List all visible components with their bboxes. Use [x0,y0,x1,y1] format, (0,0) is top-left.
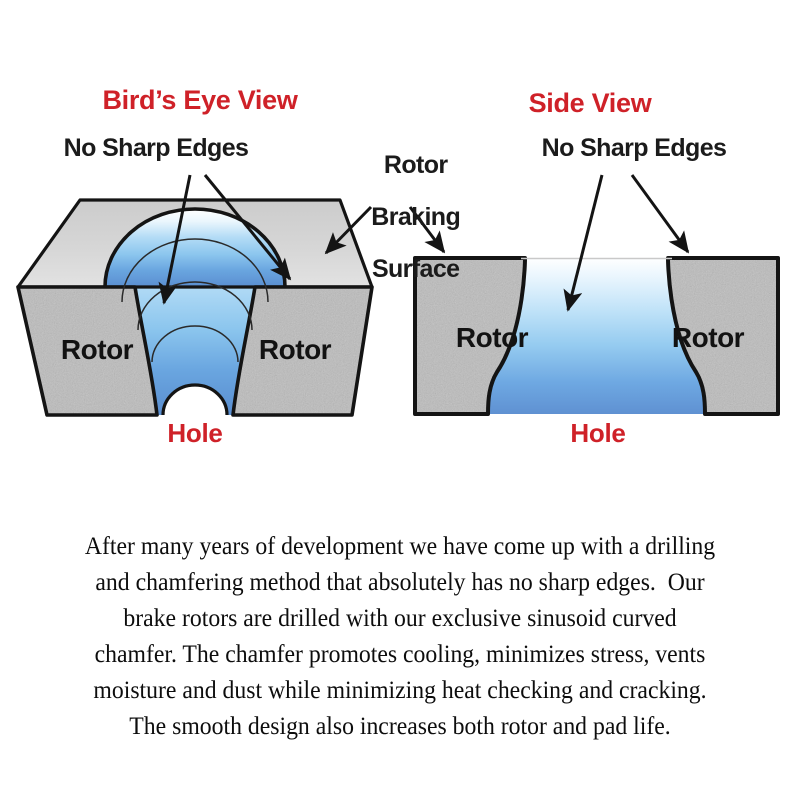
sideview-rotor-label-left: Rotor [432,322,552,354]
paragraph-line-4: chamfer. The chamfer promotes cooling, m… [35,636,764,672]
figure-canvas: Bird’s Eye View No Sharp Edges Rotor Bra… [0,0,800,800]
braking-surface-line-3: Surface [372,255,460,283]
braking-surface-line-2: Braking [371,203,460,231]
paragraph-line-6: The smooth design also increases both ro… [35,708,764,744]
braking-surface-line-1: Rotor [384,151,448,179]
sideview-hole-label: Hole [538,420,658,447]
birdseye-callout-no-sharp-edges: No Sharp Edges [22,136,290,162]
sideview-rotor-label-right: Rotor [648,322,768,354]
sideview-title: Side View [490,90,690,118]
birdseye-title: Bird’s Eye View [60,87,340,115]
paragraph-line-3: brake rotors are drilled with our exclus… [35,600,764,636]
paragraph-line-2: and chamfering method that absolutely ha… [35,564,764,600]
birdseye-rotor-label-left: Rotor [42,334,152,366]
birdseye-callout-braking-surface: Rotor Braking Surface [333,126,473,308]
birdseye-hole-label: Hole [135,420,255,447]
arrow-sv-no-sharp-edges-right [632,175,688,252]
description-paragraph: After many years of development we have … [35,528,764,744]
birdseye-rotor-label-right: Rotor [240,334,350,366]
paragraph-line-5: moisture and dust while minimizing heat … [35,672,764,708]
paragraph-line-1: After many years of development we have … [35,528,764,564]
sideview-callout-no-sharp-edges: No Sharp Edges [500,136,768,162]
